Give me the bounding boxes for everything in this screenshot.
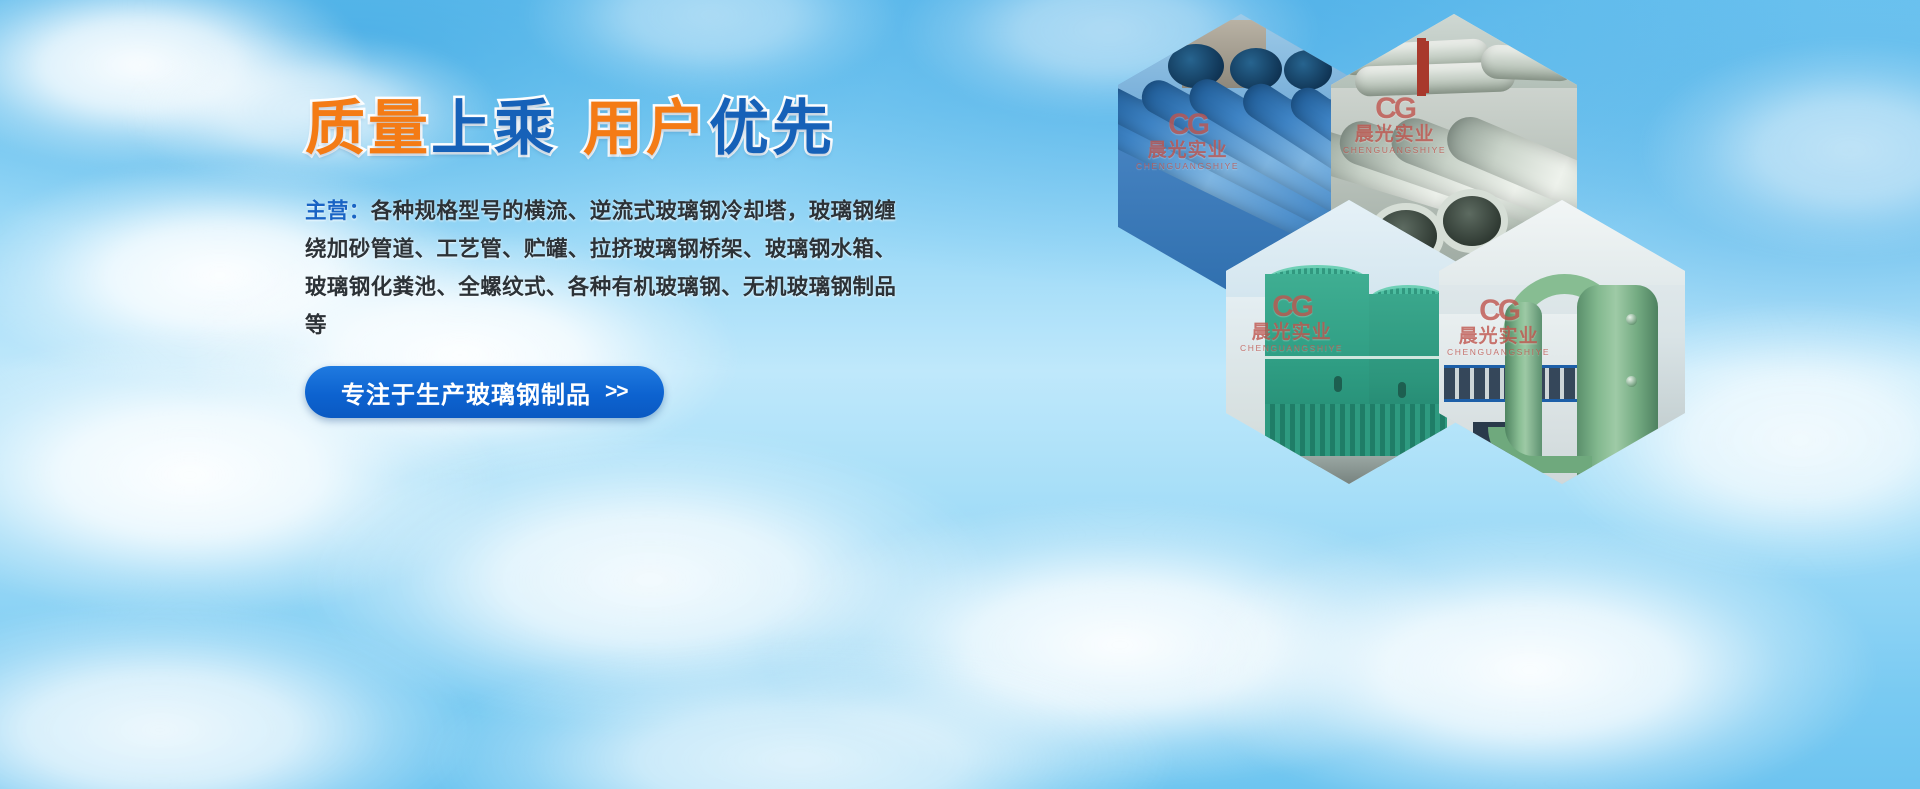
headline-part-1: 质量 [305, 95, 431, 162]
product-description: 主营：各种规格型号的横流、逆流式玻璃钢冷却塔，玻璃钢缠绕加砂管道、工艺管、贮罐、… [305, 192, 905, 344]
banner-copy: 质量上乘用户优先 主营：各种规格型号的横流、逆流式玻璃钢冷却塔，玻璃钢缠绕加砂管… [305, 92, 925, 418]
cta-label: 专注于生产玻璃钢制品 [341, 375, 591, 410]
description-lead: 主营： [305, 199, 371, 223]
headline: 质量上乘用户优先 [305, 92, 925, 166]
promo-banner: 质量上乘用户优先 主营：各种规格型号的横流、逆流式玻璃钢冷却塔，玻璃钢缠绕加砂管… [0, 0, 1920, 789]
headline-part-2: 上乘 [431, 95, 557, 162]
chevron-right-double-icon: >> [605, 380, 628, 404]
description-body: 各种规格型号的横流、逆流式玻璃钢冷却塔，玻璃钢缠绕加砂管道、工艺管、贮罐、拉挤玻… [305, 199, 896, 337]
focus-cta-button[interactable]: 专注于生产玻璃钢制品 >> [305, 366, 664, 418]
headline-part-4: 优先 [709, 95, 835, 162]
headline-part-3: 用户 [583, 95, 709, 162]
hex-gallery: CG 晨光实业 CHENGUANGSHIYE CG [1118, 0, 1758, 520]
